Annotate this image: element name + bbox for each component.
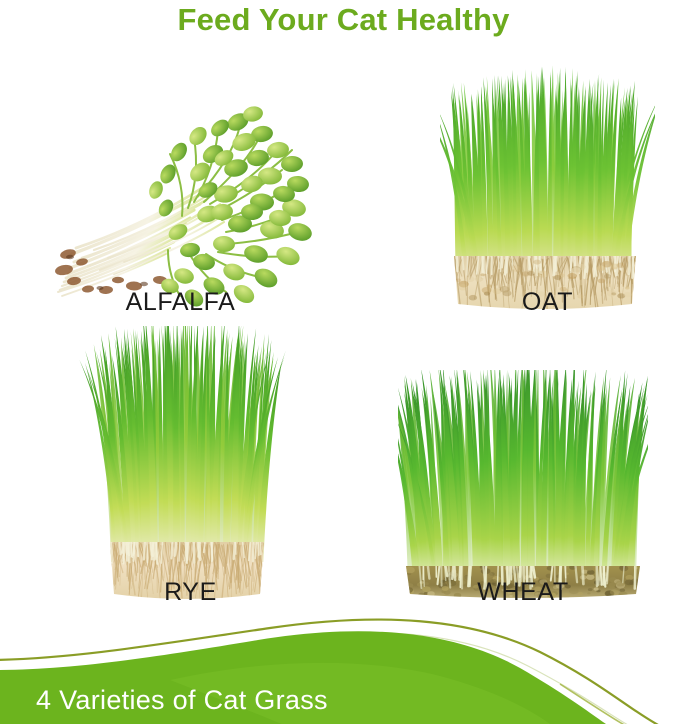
variety-card-rye <box>78 326 303 616</box>
variety-label-rye: RYE <box>78 578 303 607</box>
page-title: Feed Your Cat Healthy <box>0 2 679 38</box>
rye-grass-image <box>78 326 303 616</box>
bottom-banner: 4 Varieties of Cat Grass <box>0 614 679 724</box>
variety-label-alfalfa: ALFALFA <box>48 288 313 317</box>
variety-label-wheat: WHEAT <box>398 578 648 607</box>
variety-label-oat: OAT <box>440 288 655 317</box>
banner-caption: 4 Varieties of Cat Grass <box>36 685 328 716</box>
poster-canvas: Feed Your Cat Healthy <box>0 0 679 724</box>
